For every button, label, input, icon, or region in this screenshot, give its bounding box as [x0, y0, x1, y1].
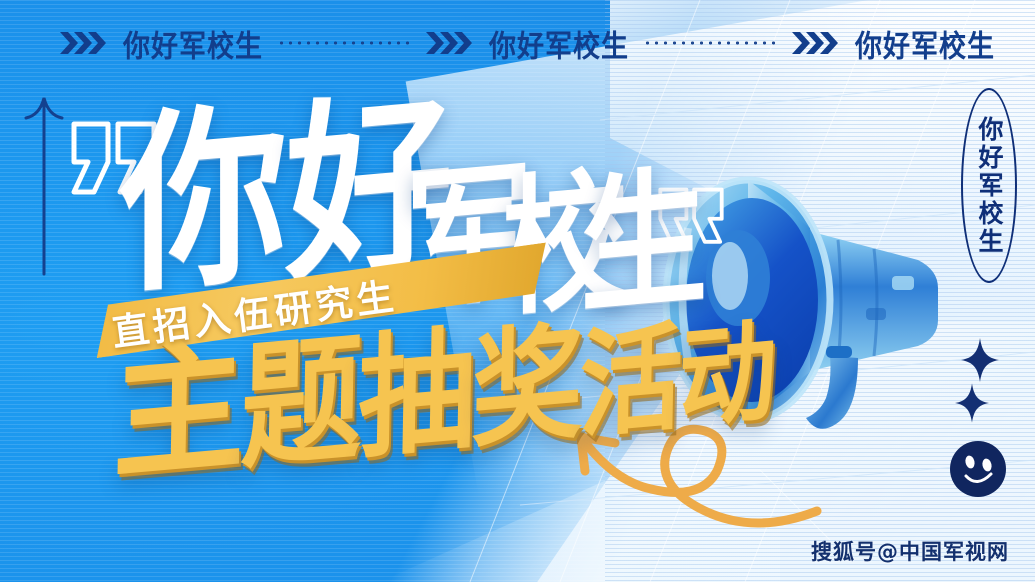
watermark: 搜狐号@中国军视网: [811, 536, 1009, 566]
headline-char: 动: [678, 325, 773, 428]
headline-char: 抽: [357, 333, 473, 457]
headline-char: 题: [240, 339, 360, 467]
headline-char: 活: [578, 328, 679, 437]
ticker-unit: 你好军校生: [792, 24, 995, 63]
ticker-label: 你好军校生: [855, 21, 995, 65]
title-char: 你: [120, 110, 287, 294]
side-badge-label: 你好军校生: [971, 116, 1007, 256]
headline-char: 奖: [471, 329, 580, 447]
sparkle-icon: [961, 338, 999, 386]
title-char: 生: [580, 173, 708, 315]
smiley-face-icon: [949, 440, 1007, 502]
headline-char: 主: [112, 341, 242, 480]
chevron-triple-icon: [792, 30, 844, 56]
sparkle-icon: [955, 383, 989, 427]
side-badge: 你好军校生: [961, 88, 1017, 283]
poster-banner: 你好军校生 你好军校生: [0, 0, 1035, 582]
